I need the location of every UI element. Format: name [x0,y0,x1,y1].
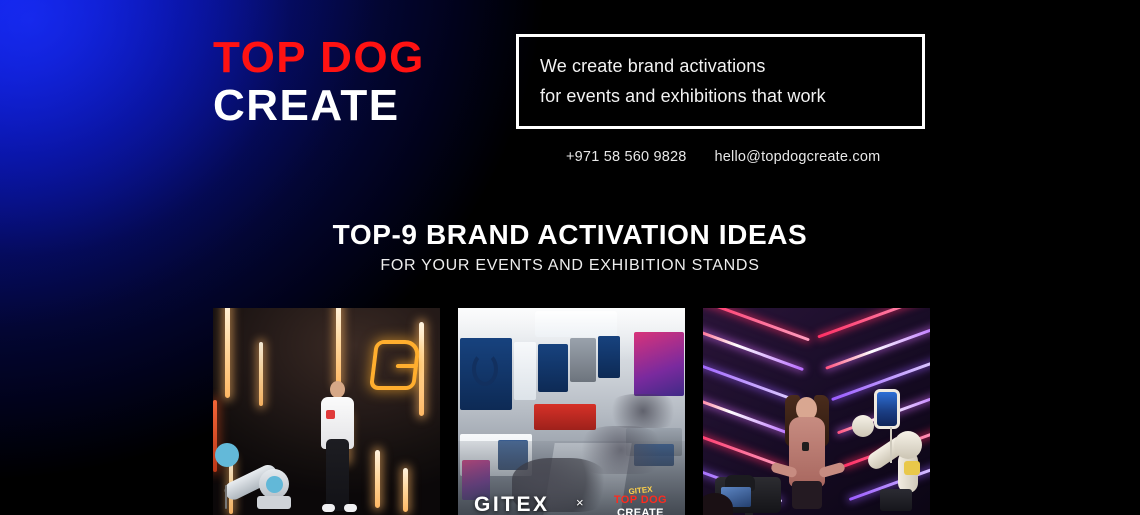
robot-arm-icon [215,421,299,509]
overlay-collab-x-icon: × [576,495,584,510]
brand-logo-line-top-dog: TOP DOG [213,36,425,80]
overlay-gitex-label: GITEX [474,493,550,515]
tagline-line-2: for events and exhibitions that work [540,82,922,111]
page-subtitle: FOR YOUR EVENTS AND EXHIBITION STANDS [0,257,1140,275]
hall-banner [538,344,568,392]
hall-banner [598,336,620,378]
hall-crowd [608,394,678,428]
smartphone-icon [874,389,900,429]
gallery-item-neon-room-robot-photo-booth[interactable] [703,308,930,515]
person-figure [317,371,359,511]
gallery: GITEX × GITEX TOP DOG CREATE [213,308,929,515]
brand-logo-line-create: CREATE [213,84,425,128]
hall-skylight [535,311,617,337]
hall-booth [534,404,596,430]
overlay-partner-line-2: CREATE [614,508,667,515]
gallery-item-gitex-exhibition-hall[interactable]: GITEX × GITEX TOP DOG CREATE [458,308,685,515]
neon-tube-icon [419,322,424,416]
g-brand-neon-logo-icon [369,340,421,390]
poster-canvas: TOP DOG CREATE We create brand activatio… [0,0,1140,515]
hall-banner [514,342,536,400]
hall-banner [634,332,684,396]
neon-tube-icon [225,308,230,398]
contact-email[interactable]: hello@topdogcreate.com [715,149,881,165]
hall-crowd [578,426,664,474]
tagline-line-1: We create brand activations [540,52,922,81]
tagline-box: We create brand activations for events a… [516,34,925,129]
neon-tube-icon [403,468,408,512]
phone-cable [890,427,892,463]
overlay-topdog-badge: GITEX TOP DOG CREATE [614,487,667,515]
hall-banner-numeral-icon [472,352,498,386]
neon-tube-icon [259,342,263,406]
brand-logo[interactable]: TOP DOG CREATE [213,36,425,128]
hall-banner [570,338,596,382]
contact-row: +971 58 560 9828 hello@topdogcreate.com [566,149,880,165]
contact-phone[interactable]: +971 58 560 9828 [566,149,687,165]
page-title: TOP-9 BRAND ACTIVATION IDEAS [0,219,1140,251]
neon-tube-icon [375,450,380,508]
gallery-item-neon-studio-activation[interactable] [213,308,440,515]
